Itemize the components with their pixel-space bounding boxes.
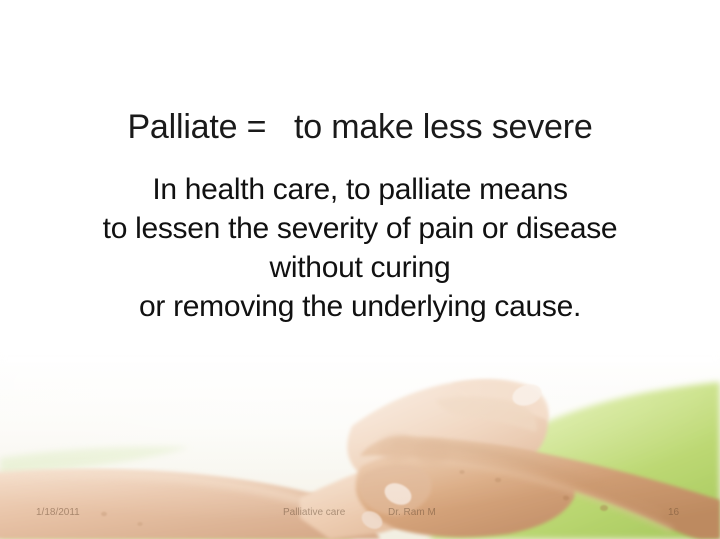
slide-body: In health care, to palliate means to les… <box>0 170 720 326</box>
body-line: to lessen the severity of pain or diseas… <box>0 209 720 248</box>
clasped-hands-illustration <box>0 348 720 539</box>
body-line: In health care, to palliate means <box>0 170 720 209</box>
clasped-hands-photo <box>0 348 720 539</box>
slide-title: Palliate = to make less severe <box>0 106 720 148</box>
slide-text-area: Palliate = to make less severe In health… <box>0 0 720 348</box>
body-line: without curing <box>0 248 720 287</box>
body-line: or removing the underlying cause. <box>0 287 720 326</box>
slide: Palliate = to make less severe In health… <box>0 0 720 539</box>
